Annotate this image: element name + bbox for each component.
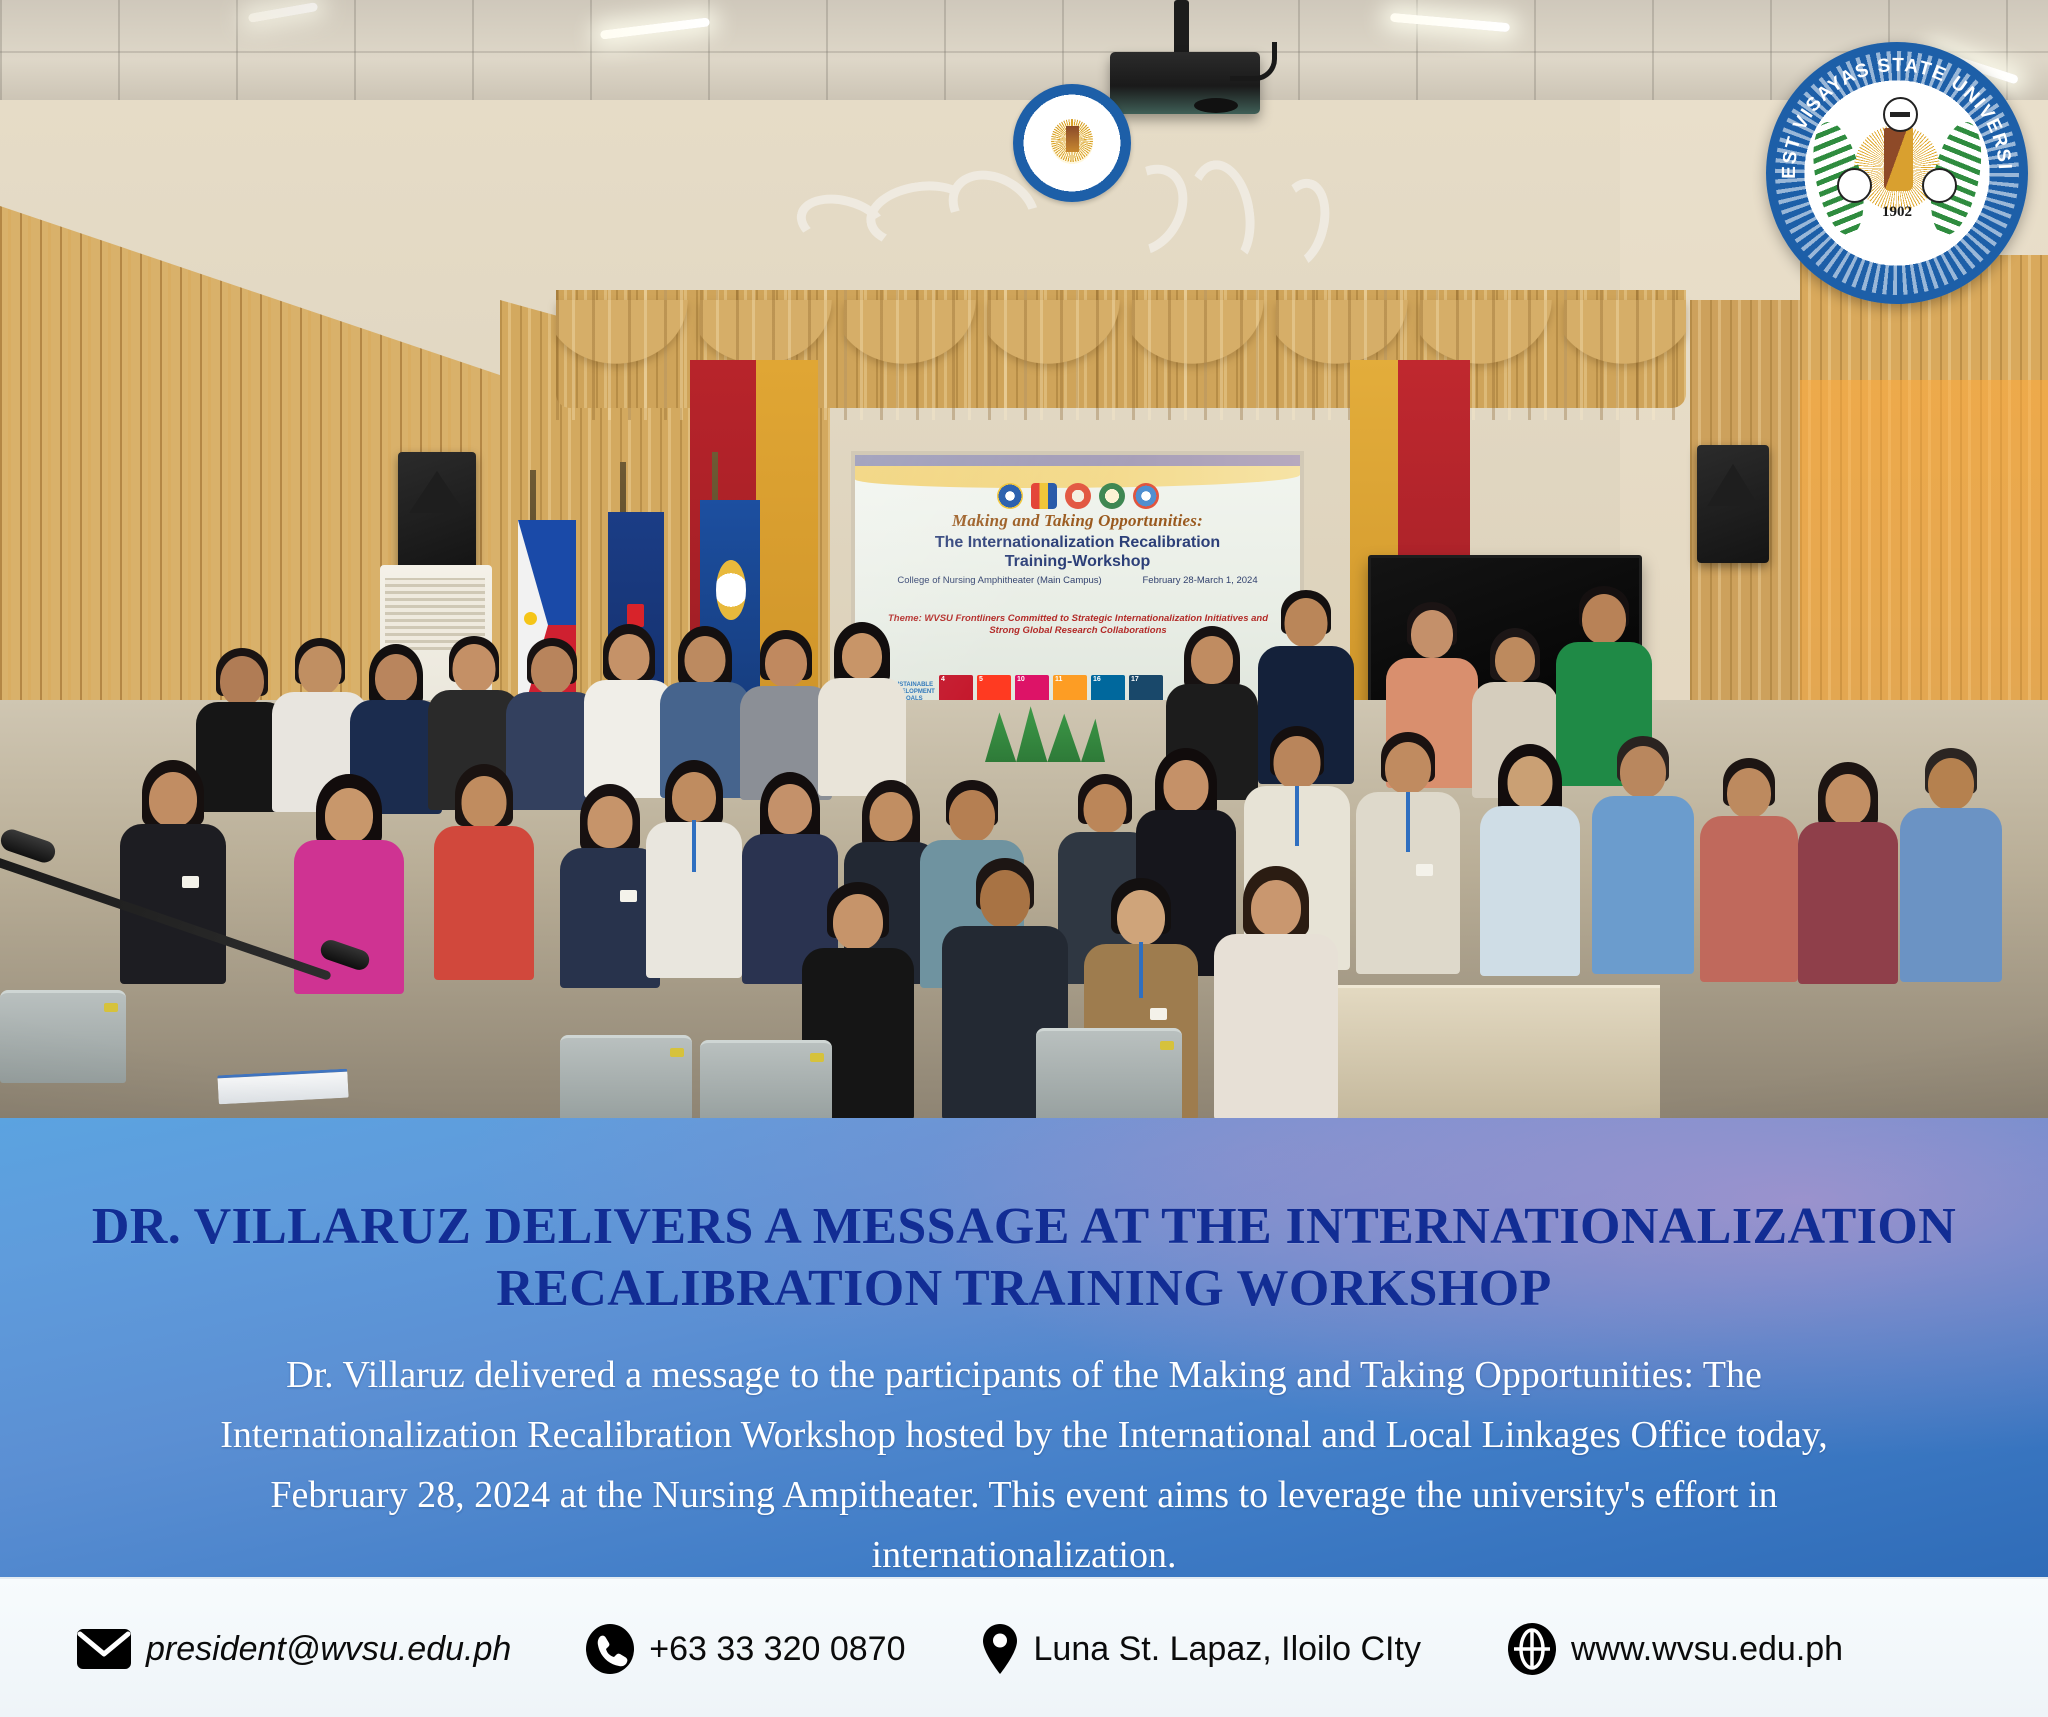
- slide-dates: February 28-March 1, 2024: [1142, 575, 1257, 586]
- iatf-logo-icon: [1031, 483, 1057, 509]
- caption-text: Dr. Villaruz delivered a message to the …: [150, 1345, 1898, 1585]
- speaker-icon: [1697, 445, 1769, 563]
- stucco-ornament: [786, 172, 1356, 242]
- seal-shield-icon: [1884, 128, 1913, 191]
- participant: [1480, 748, 1580, 976]
- slide-title-line3: Training-Workshop: [855, 552, 1300, 571]
- footer-phone-item[interactable]: +63 33 320 0870: [585, 1623, 905, 1675]
- amphitheater-chair: [0, 990, 126, 1083]
- location-pin-icon: [980, 1622, 1020, 1676]
- ched-logo-icon: [1099, 483, 1125, 509]
- poster: Making and Taking Opportunities: The Int…: [0, 0, 2048, 1717]
- envelope-icon: [76, 1627, 132, 1671]
- page-title: DR. VILLARUZ DELIVERS A MESSAGE AT THE I…: [60, 1196, 1988, 1320]
- amphitheater-chair: [1036, 1028, 1182, 1118]
- philippines-logo-icon: [997, 483, 1023, 509]
- contact-footer: president@wvsu.edu.ph +63 33 320 0870 Lu…: [0, 1577, 2048, 1717]
- seal-emblem-left-icon: [1837, 168, 1872, 203]
- wvsu-seal-logo: WEST VISAYAS STATE UNIVERSITY ILOILO CIT…: [1766, 42, 2028, 304]
- speaker-icon: [398, 452, 476, 570]
- footer-phone-text: +63 33 320 0870: [649, 1630, 905, 1669]
- participant: [1700, 762, 1798, 982]
- footer-email-item[interactable]: president@wvsu.edu.ph: [76, 1627, 511, 1671]
- slide-meta: College of Nursing Amphitheater (Main Ca…: [855, 575, 1300, 586]
- slide-partner-logos: [855, 481, 1300, 511]
- slide-title-italic: Making and Taking Opportunities:: [855, 511, 1300, 531]
- participants-group: [0, 600, 2048, 1118]
- amphitheater-chair: [700, 1040, 832, 1118]
- event-photograph: Making and Taking Opportunities: The Int…: [0, 0, 2048, 1118]
- footer-website-item[interactable]: www.wvsu.edu.ph: [1507, 1622, 1843, 1676]
- slide-title-main: The Internationalization Recalibration T…: [855, 533, 1300, 571]
- participant: [1798, 766, 1898, 984]
- footer-website-text: www.wvsu.edu.ph: [1571, 1630, 1843, 1669]
- participant: [1592, 740, 1694, 974]
- projector-cable: [1230, 42, 1277, 81]
- seal-founding-year: 1902: [1766, 204, 2028, 221]
- participant: [1356, 736, 1460, 974]
- partner-logo-icon: [1133, 483, 1159, 509]
- participant: [1900, 752, 2002, 982]
- footer-address-item[interactable]: Luna St. Lapaz, Iloilo CIty: [980, 1622, 1421, 1676]
- participant: [434, 768, 534, 980]
- participant: [560, 788, 660, 988]
- amphitheater-chair: [560, 1035, 692, 1118]
- participant: [120, 764, 226, 984]
- asean-logo-icon: [1065, 483, 1091, 509]
- slide-venue: College of Nursing Amphitheater (Main Ca…: [897, 575, 1101, 586]
- slide-title-line2: The Internationalization Recalibration: [855, 533, 1300, 552]
- projector-mount: [1174, 0, 1189, 58]
- footer-address-text: Luna St. Lapaz, Iloilo CIty: [1034, 1630, 1421, 1669]
- participant: [1214, 870, 1338, 1118]
- phone-icon: [585, 1623, 635, 1675]
- participant: [818, 626, 906, 796]
- ceiling: [0, 0, 2048, 108]
- globe-icon: [1507, 1622, 1557, 1676]
- footer-email-text: president@wvsu.edu.ph: [146, 1630, 511, 1669]
- participant: [646, 764, 742, 978]
